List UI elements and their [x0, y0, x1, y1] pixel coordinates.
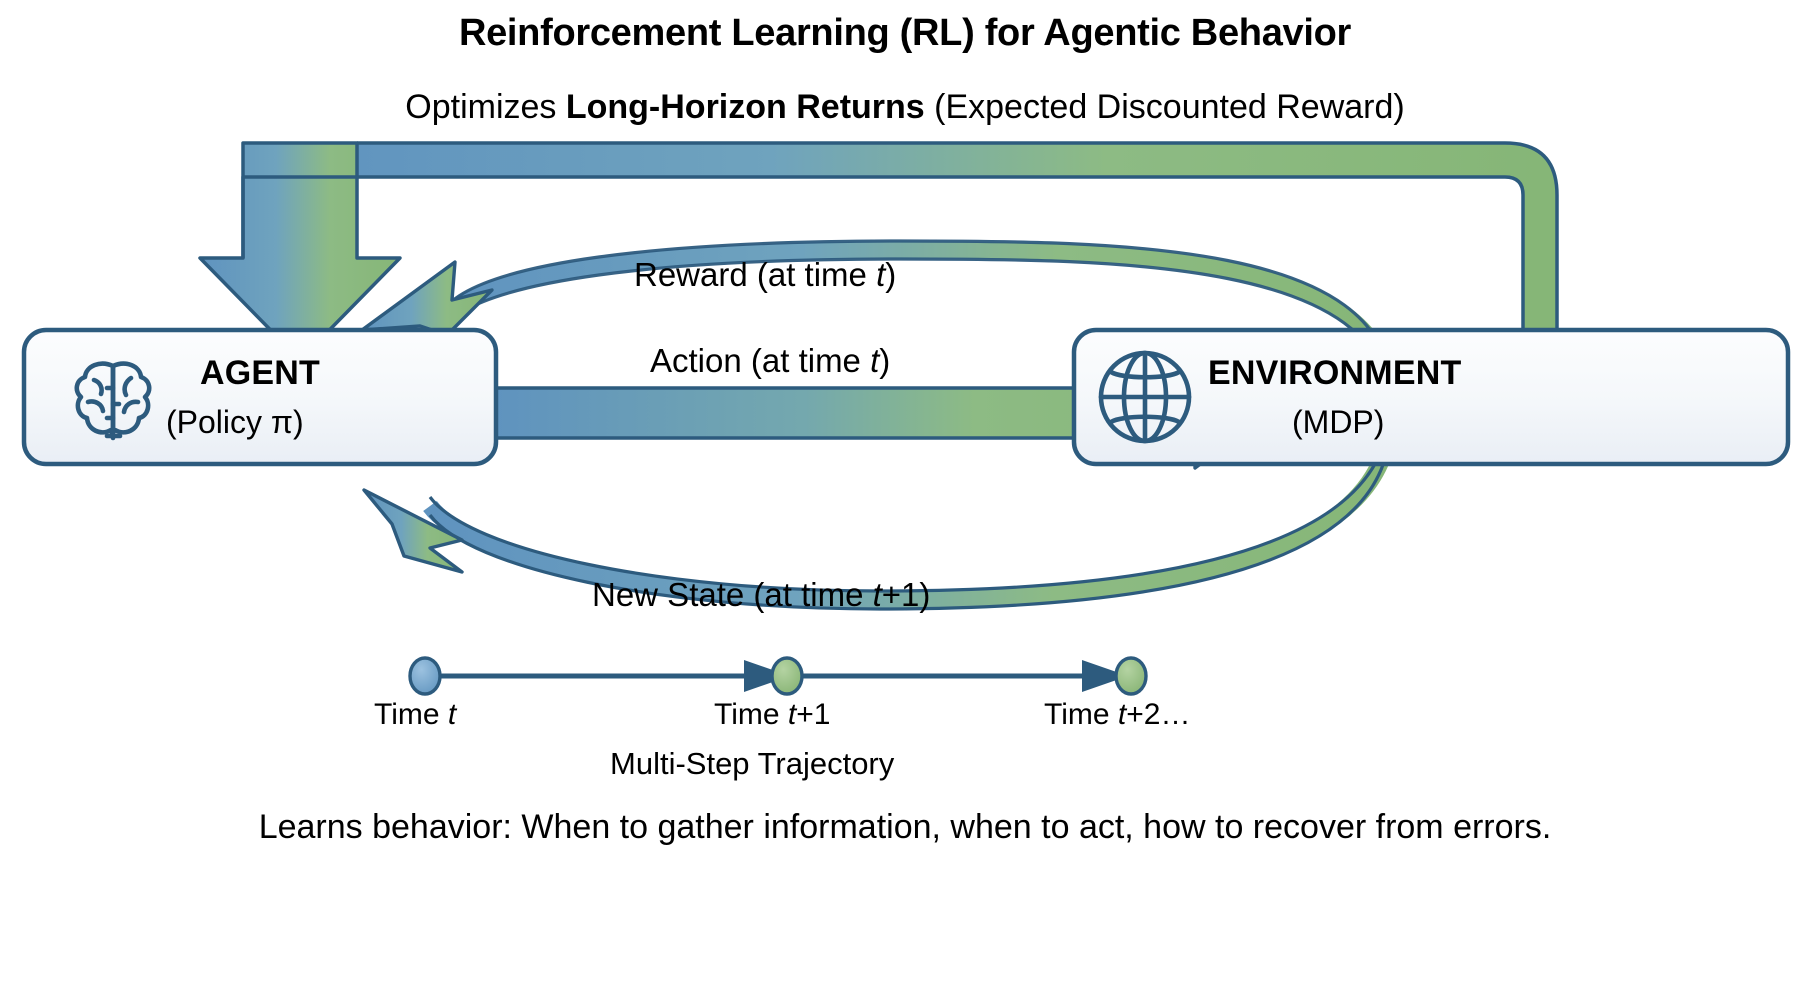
tl0-var: t — [448, 698, 456, 731]
action-edge-label: Action (at time t) — [650, 344, 890, 377]
tl2-prefix: Time — [1044, 698, 1118, 731]
environment-title: ENVIRONMENT — [1208, 356, 1461, 390]
new-state-label-prefix: New State (at time — [592, 576, 873, 613]
timeline-caption: Multi-Step Trajectory — [610, 748, 894, 779]
timeline-dot-2 — [1116, 658, 1146, 694]
footer-caption: Learns behavior: When to gather informat… — [0, 810, 1810, 844]
timeline-label-1: Time t+1 — [714, 700, 830, 730]
new-state-label-suffix: +1) — [882, 576, 931, 613]
brain-icon — [77, 364, 149, 438]
globe-icon — [1101, 353, 1189, 441]
returns-label-emphasis: Long-Horizon Returns — [566, 88, 925, 126]
action-label-suffix: ) — [879, 342, 890, 379]
reward-label-var: t — [876, 256, 885, 293]
new-state-label-var: t — [873, 576, 882, 613]
agent-box[interactable] — [24, 330, 496, 464]
returns-loop-label: Optimizes Long-Horizon Returns (Expected… — [0, 90, 1810, 124]
tl2-suffix: +2… — [1126, 698, 1190, 731]
timeline-label-0: Time t — [374, 700, 456, 730]
reward-label-suffix: ) — [885, 256, 896, 293]
timeline-label-2: Time t+2… — [1044, 700, 1190, 730]
tl1-var: t — [788, 698, 796, 731]
environment-subtitle: (MDP) — [1292, 406, 1384, 438]
timeline-dot-0 — [410, 658, 440, 694]
diagram-canvas: Reinforcement Learning (RL) for Agentic … — [0, 0, 1810, 992]
tl0-prefix: Time — [374, 698, 448, 731]
timeline-track — [410, 658, 1146, 694]
timeline-dot-1 — [772, 658, 802, 694]
action-label-var: t — [870, 342, 879, 379]
reward-label-prefix: Reward (at time — [634, 256, 876, 293]
agent-subtitle: (Policy π) — [166, 406, 304, 438]
returns-label-suffix: (Expected Discounted Reward) — [925, 88, 1405, 126]
agent-title: AGENT — [200, 356, 320, 390]
action-label-prefix: Action (at time — [650, 342, 870, 379]
page-title: Reinforcement Learning (RL) for Agentic … — [0, 14, 1810, 52]
reward-edge-label: Reward (at time t) — [634, 258, 896, 291]
tl1-prefix: Time — [714, 698, 788, 731]
returns-label-prefix: Optimizes — [405, 88, 566, 126]
new-state-edge-label: New State (at time t+1) — [592, 578, 930, 611]
tl1-suffix: +1 — [796, 698, 830, 731]
tl2-var: t — [1118, 698, 1126, 731]
